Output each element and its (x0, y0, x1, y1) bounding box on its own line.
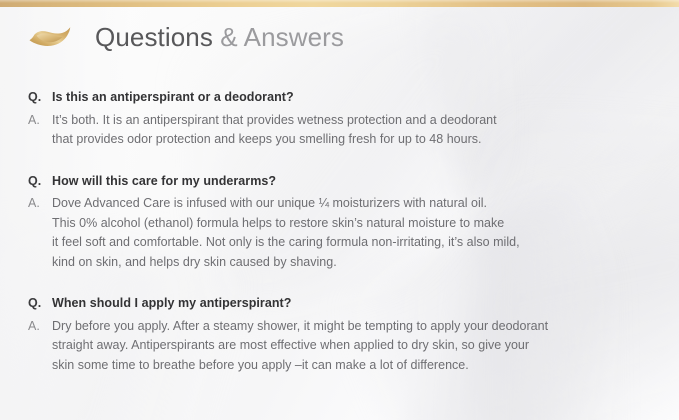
answer-line: it feel soft and comfortable. Not only i… (52, 233, 653, 253)
answer-line: that provides odor protection and keeps … (52, 130, 653, 150)
gold-bar-sheen (0, 0, 679, 3)
answer-text: Dry before you apply. After a steamy sho… (52, 317, 653, 376)
question-row: Q. When should I apply my antiperspirant… (28, 294, 653, 314)
answer-line: skin some time to breathe before you app… (52, 356, 653, 376)
qa-block: Q. How will this care for my underarms? … (28, 172, 653, 273)
qa-block: Q. Is this an antiperspirant or a deodor… (28, 88, 653, 150)
qa-list: Q. Is this an antiperspirant or a deodor… (28, 88, 653, 375)
answer-row: A. Dry before you apply. After a steamy … (28, 317, 653, 376)
answer-line: straight away. Antiperspirants are most … (52, 336, 653, 356)
answer-row: A. It’s both. It is an antiperspirant th… (28, 111, 653, 150)
question-marker: Q. (28, 294, 52, 314)
page-title-secondary: & Answers (213, 22, 344, 52)
answer-line: kind on skin, and helps dry skin caused … (52, 253, 653, 273)
page-title: Questions & Answers (95, 24, 344, 50)
question-text: How will this care for my underarms? (52, 172, 653, 192)
answer-marker: A. (28, 317, 52, 337)
answer-line: This 0% alcohol (ethanol) formula helps … (52, 214, 653, 234)
question-text: Is this an antiperspirant or a deodorant… (52, 88, 653, 108)
question-row: Q. Is this an antiperspirant or a deodor… (28, 88, 653, 108)
answer-line: Dry before you apply. After a steamy sho… (52, 317, 653, 337)
question-marker: Q. (28, 172, 52, 192)
question-text: When should I apply my antiperspirant? (52, 294, 653, 314)
page-title-primary: Questions (95, 22, 213, 52)
answer-marker: A. (28, 194, 52, 214)
qa-page: Questions & Answers Q. Is this an antipe… (0, 0, 679, 420)
answer-text: Dove Advanced Care is infused with our u… (52, 194, 653, 272)
qa-block: Q. When should I apply my antiperspirant… (28, 294, 653, 375)
question-row: Q. How will this care for my underarms? (28, 172, 653, 192)
answer-marker: A. (28, 111, 52, 131)
answer-row: A. Dove Advanced Care is infused with ou… (28, 194, 653, 272)
answer-text: It’s both. It is an antiperspirant that … (52, 111, 653, 150)
page-header: Questions & Answers (28, 22, 344, 50)
question-marker: Q. (28, 88, 52, 108)
answer-line: It’s both. It is an antiperspirant that … (52, 111, 653, 131)
answer-line: Dove Advanced Care is infused with our u… (52, 194, 653, 214)
dove-bird-logo (28, 22, 72, 50)
gold-accent-bar (0, 0, 679, 7)
